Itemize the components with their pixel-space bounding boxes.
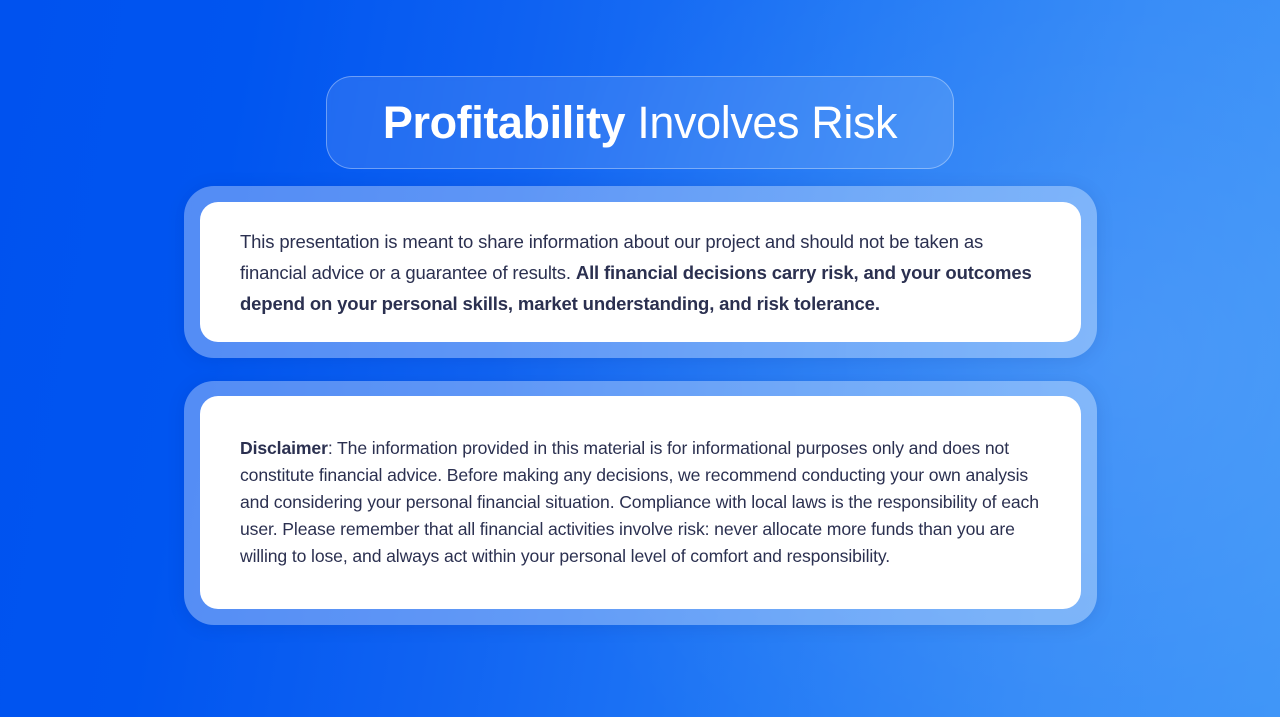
page-title-bold: Profitability: [383, 97, 625, 148]
slide-title-pill: Profitability Involves Risk: [326, 76, 954, 169]
slide-root: Profitability Involves Risk This present…: [0, 0, 1280, 717]
notice-card-body: This presentation is meant to share info…: [200, 226, 1081, 319]
disclaimer-card-body: Disclaimer: The information provided in …: [200, 435, 1081, 570]
page-title: Profitability Involves Risk: [383, 100, 897, 145]
disclaimer-text: : The information provided in this mater…: [240, 438, 1039, 566]
page-title-regular: Involves Risk: [625, 97, 897, 148]
disclaimer-card-surface: Disclaimer: The information provided in …: [200, 396, 1081, 609]
notice-card-surface: This presentation is meant to share info…: [200, 202, 1081, 342]
disclaimer-card-frame: Disclaimer: The information provided in …: [184, 381, 1097, 625]
notice-card-frame: This presentation is meant to share info…: [184, 186, 1097, 358]
disclaimer-label: Disclaimer: [240, 438, 328, 458]
